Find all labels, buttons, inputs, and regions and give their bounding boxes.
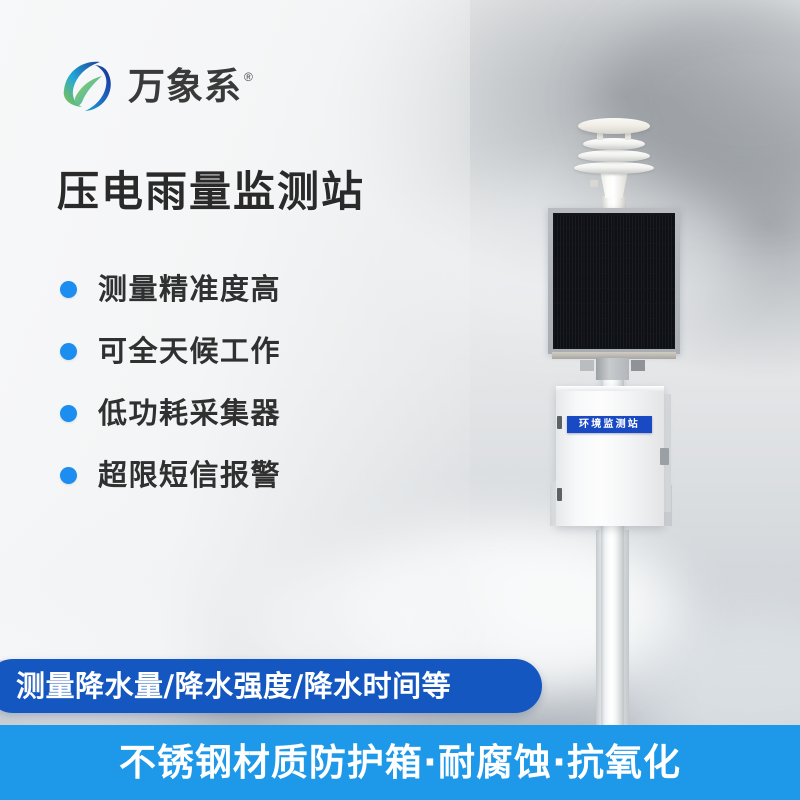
solar-cell [585,259,614,272]
enclosure-latch-bottom [557,488,562,501]
enclosure-front-panel [556,386,664,526]
solar-cell [585,229,614,242]
brand-name: 万象系 [128,68,242,105]
brand-logo: 万象系 ® [58,56,253,116]
enclosure-label-text: 环境监测站 [579,420,640,430]
solar-cell [555,259,584,272]
solar-cell [615,215,644,228]
solar-cell [555,215,584,228]
solar-cell [555,229,584,242]
solar-cell [645,274,674,287]
enclosure-top-lip [556,386,664,391]
sensor-plate-3 [574,162,654,174]
feature-label: 测量精准度高 [98,275,281,304]
solar-cell [645,244,674,257]
feature-label: 超限短信报警 [98,461,281,490]
solar-cell [555,334,584,347]
solar-cell [555,244,584,257]
sensor-plate-2 [578,150,650,162]
solar-cell [615,259,644,272]
rain-gauge-sensor-icon [572,110,656,215]
solar-cell [555,289,584,302]
solar-cell [645,319,674,332]
sensor-connector [590,180,598,187]
feature-item: 可全天候工作 [60,320,281,382]
bullet-dot-icon [60,281,77,298]
solar-cell [615,274,644,287]
solar-cell [585,334,614,347]
solar-cell [615,229,644,242]
solar-cell [555,319,584,332]
feature-label: 低功耗采集器 [98,399,281,428]
solar-cell [645,304,674,317]
feature-list: 测量精准度高 可全天候工作 低功耗采集器 超限短信报警 [60,258,281,506]
bullet-dot-icon [60,405,77,422]
enclosure-lock-knob [660,448,669,465]
feature-item: 测量精准度高 [60,258,281,320]
solar-cell [555,304,584,317]
globe-swoosh-logo-icon [58,56,118,116]
solar-cell [615,289,644,302]
solar-panel-icon [548,208,680,354]
material-banner: 不锈钢材质防护箱·耐腐蚀·抗氧化 [0,725,800,800]
solar-cell [615,244,644,257]
sensor-top-cap [578,118,650,134]
enclosure-latch-top [557,416,562,429]
material-banner-text: 不锈钢材质防护箱·耐腐蚀·抗氧化 [119,744,681,781]
solar-cell [645,215,674,228]
solar-cell [585,304,614,317]
device-illustration: 环境监测站 [500,100,760,740]
solar-cell [555,274,584,287]
brand-name-block: 万象系 ® [128,68,253,105]
page-title: 压电雨量监测站 [57,167,365,217]
feature-item: 低功耗采集器 [60,382,281,444]
bullet-dot-icon [60,343,77,360]
solar-cell [585,319,614,332]
solar-cell [585,289,614,302]
measurement-banner-text: 测量降水量/降水强度/降水时间等 [16,672,451,701]
registered-trademark-icon: ® [244,70,253,84]
bullet-dot-icon [60,467,77,484]
solar-cell-grid [553,213,675,349]
solar-cell [645,259,674,272]
solar-cell [615,319,644,332]
solar-cell [645,289,674,302]
feature-item: 超限短信报警 [60,444,281,506]
enclosure-label-plate: 环境监测站 [567,416,652,433]
solar-cell [645,229,674,242]
mount-bracket-right [631,360,645,371]
solar-cell [645,334,674,347]
solar-cell [585,244,614,257]
solar-cell [585,274,614,287]
enclosure-box: 环境监测站 [540,372,692,540]
solar-cell [615,304,644,317]
sensor-plate-1 [583,138,645,150]
solar-cell [585,215,614,228]
sensor-cone [596,172,632,198]
product-poster: 环境监测站 [0,0,800,800]
mount-bracket-left [580,360,594,371]
solar-cell [615,334,644,347]
measurement-banner: 测量降水量/降水强度/降水时间等 [0,659,542,713]
feature-label: 可全天候工作 [98,337,281,366]
